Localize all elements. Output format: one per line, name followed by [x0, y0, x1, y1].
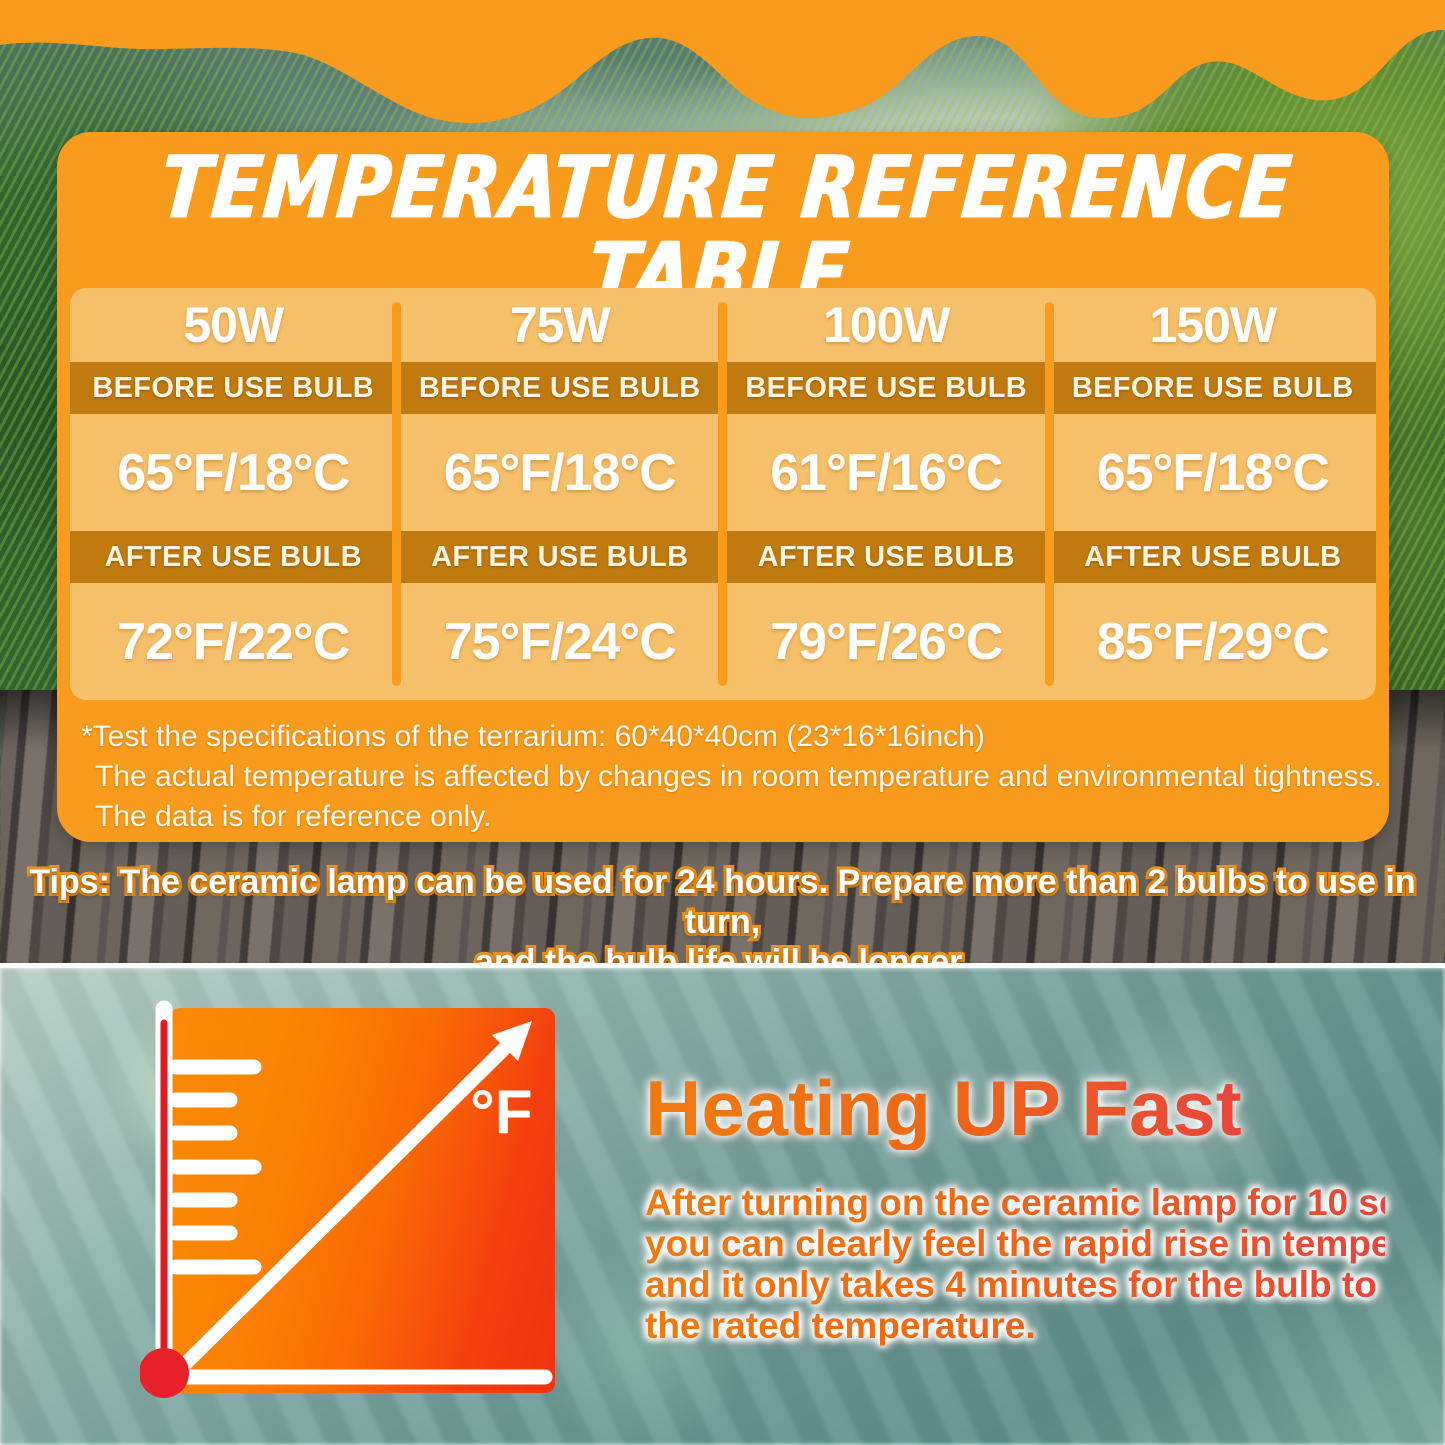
table-column-1: 75W BEFORE USE BULB 65°F/18°C AFTER USE …: [397, 288, 724, 700]
table-column-3: 150W BEFORE USE BULB 65°F/18°C AFTER USE…: [1050, 288, 1377, 700]
after-use-value: 79°F/26°C: [723, 583, 1050, 700]
thermometer-chart-icon: [140, 995, 580, 1425]
before-use-value: 65°F/18°C: [397, 414, 724, 531]
after-use-label: AFTER USE BULB: [70, 531, 397, 583]
table-divider-2: [718, 302, 727, 686]
before-use-label: BEFORE USE BULB: [397, 362, 724, 414]
fahrenheit-unit-label: °F: [470, 1082, 533, 1144]
after-use-label: AFTER USE BULB: [1050, 531, 1377, 583]
table-column-0: 50W BEFORE USE BULB 65°F/18°C AFTER USE …: [70, 288, 397, 700]
after-use-value: 72°F/22°C: [70, 583, 397, 700]
wattage-header: 75W: [397, 288, 724, 362]
wattage-header: 50W: [70, 288, 397, 362]
before-use-value: 65°F/18°C: [1050, 414, 1377, 531]
heating-headline: Heating UP Fast: [645, 1068, 1242, 1150]
thermometer-bulb: [140, 1348, 189, 1398]
after-use-label: AFTER USE BULB: [723, 531, 1050, 583]
body-line-4: the rated temperature.: [645, 1305, 1385, 1346]
after-use-value: 75°F/24°C: [397, 583, 724, 700]
wattage-header: 100W: [723, 288, 1050, 362]
wattage-header: 150W: [1050, 288, 1377, 362]
tips-text: Tips: The ceramic lamp can be used for 2…: [0, 862, 1445, 963]
body-line-3: and it only takes 4 minutes for the bulb…: [645, 1264, 1385, 1305]
body-line-1: After turning on the ceramic lamp for 10…: [645, 1182, 1385, 1223]
table-column-2: 100W BEFORE USE BULB 61°F/16°C AFTER USE…: [723, 288, 1050, 700]
before-use-label: BEFORE USE BULB: [70, 362, 397, 414]
tips-line-1: Tips: The ceramic lamp can be used for 2…: [29, 863, 1415, 941]
product-infographic: TEMPERATURE REFERENCE TABLE 50W BEFORE U…: [0, 0, 1445, 1445]
after-use-label: AFTER USE BULB: [397, 531, 724, 583]
temperature-table: 50W BEFORE USE BULB 65°F/18°C AFTER USE …: [70, 288, 1376, 700]
before-use-value: 61°F/16°C: [723, 414, 1050, 531]
footnote-block: *Test the specifications of the terrariu…: [81, 717, 1371, 837]
tips-line-2: and the bulb life will be longer.: [0, 942, 1445, 963]
before-use-label: BEFORE USE BULB: [723, 362, 1050, 414]
temperature-table-section: TEMPERATURE REFERENCE TABLE 50W BEFORE U…: [0, 0, 1445, 963]
footnote-line-3: The data is for reference only.: [81, 797, 1371, 837]
before-use-label: BEFORE USE BULB: [1050, 362, 1377, 414]
body-line-2: you can clearly feel the rapid rise in t…: [645, 1223, 1385, 1264]
table-divider-1: [392, 302, 401, 686]
footnote-line-1: *Test the specifications of the terrariu…: [81, 717, 1371, 757]
wave-mask-top: [0, 0, 1445, 150]
heating-description: After turning on the ceramic lamp for 10…: [645, 1182, 1385, 1346]
after-use-value: 85°F/29°C: [1050, 583, 1377, 700]
before-use-value: 65°F/18°C: [70, 414, 397, 531]
footnote-line-2: The actual temperature is affected by ch…: [81, 757, 1371, 797]
temperature-card: TEMPERATURE REFERENCE TABLE 50W BEFORE U…: [57, 132, 1389, 842]
table-divider-3: [1045, 302, 1054, 686]
